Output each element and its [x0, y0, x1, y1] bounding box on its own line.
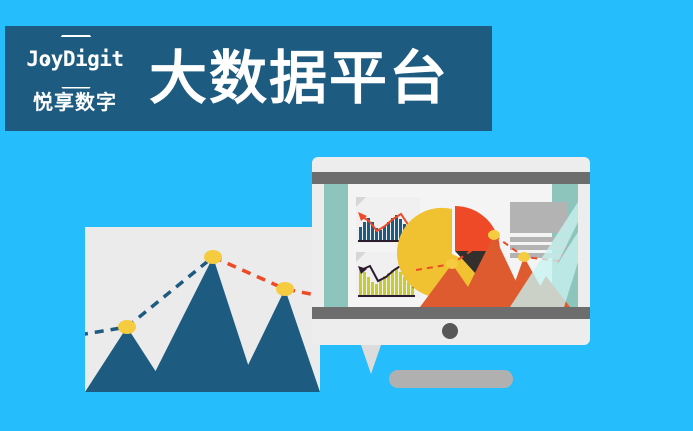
monitor-stripe-top	[312, 172, 590, 184]
header-banner: JoyDigit 悦享数字 大数据平台	[5, 26, 492, 131]
logo-wordmark: JoyDigit	[15, 49, 135, 70]
monitor-stand-neck	[361, 345, 381, 374]
monitor-power-dot-icon	[442, 323, 458, 339]
orange-trend-marker-1	[446, 259, 458, 269]
trend-marker-3	[276, 282, 294, 296]
page-title: 大数据平台	[149, 50, 449, 108]
desktop-monitor	[312, 157, 590, 345]
orange-trend-marker-2	[488, 230, 500, 240]
trend-line-red-dashed	[213, 257, 320, 297]
placeholder-image-block	[510, 202, 568, 233]
mountain-trend-card	[85, 227, 320, 392]
trend-marker-2	[204, 250, 222, 264]
monitor-stand-base	[389, 370, 513, 388]
mountain-peak-tall-center	[145, 257, 257, 392]
monitor-screen	[324, 184, 578, 307]
poster-canvas: JoyDigit 悦享数字 大数据平台	[0, 0, 693, 431]
trend-marker-1	[118, 320, 136, 334]
monitor-stripe-bottom	[312, 307, 590, 319]
axis-baseline-olive	[358, 295, 415, 297]
mountain-peak-right	[235, 289, 320, 392]
screen-side-panel-left	[324, 184, 348, 307]
brand-logo: JoyDigit 悦享数字	[15, 31, 135, 127]
dashboard-graphic	[324, 184, 578, 307]
mountain-trend-chart	[85, 227, 320, 392]
orange-trend-marker-3	[518, 252, 530, 262]
logo-subtext: 悦享数字	[15, 93, 135, 113]
